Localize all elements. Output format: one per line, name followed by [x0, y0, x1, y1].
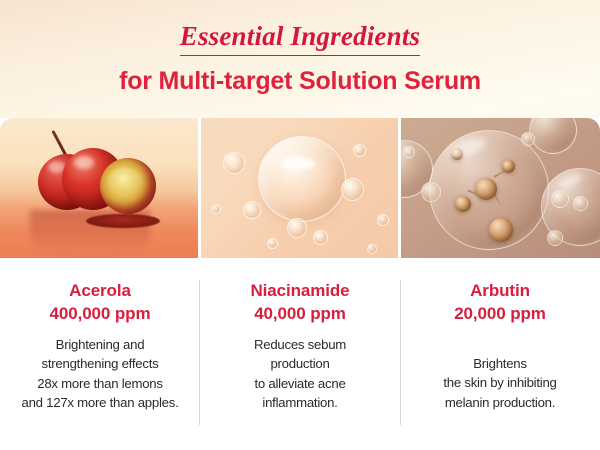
description-line: 28x more than lemons: [12, 374, 188, 394]
ingredient-card-acerola: Acerola 400,000 ppm Brightening andstren…: [0, 258, 200, 450]
bubble: [377, 214, 389, 226]
bubble: [223, 152, 245, 174]
description-line: inflammation.: [212, 393, 388, 413]
ingredient-name: Arbutin: [412, 280, 588, 303]
ingredient-image-strip: [0, 118, 600, 258]
description-line: Brightens: [412, 354, 588, 374]
description-line: production: [212, 354, 388, 374]
bubble: [353, 144, 366, 157]
bubble: [547, 230, 563, 246]
description-line: Reduces sebum: [212, 335, 388, 355]
ingredient-amount: 40,000 ppm: [212, 303, 388, 326]
sphere: [529, 118, 577, 154]
ingredient-description: Reduces sebumproductionto alleviate acne…: [212, 335, 388, 413]
description-line: the skin by inhibiting: [412, 373, 588, 393]
ingredient-columns: Acerola 400,000 ppm Brightening andstren…: [0, 258, 600, 450]
bubble: [313, 230, 328, 245]
ingredients-infographic: Essential Ingredients for Multi-target S…: [0, 0, 600, 450]
bubble: [367, 244, 377, 254]
page-title: Essential Ingredients: [180, 22, 421, 56]
description-line: melanin production.: [412, 393, 588, 413]
cherry-juice-pool: [86, 214, 160, 228]
acerola-cherries-photo: [0, 118, 198, 258]
description-line: strengthening effects: [12, 354, 188, 374]
bubble: [341, 178, 364, 201]
bubble: [287, 218, 307, 238]
ingredient-description: Brightening andstrengthening effects28x …: [12, 335, 188, 413]
ingredient-amount: 20,000 ppm: [412, 303, 588, 326]
main-serum-droplet: [258, 136, 346, 222]
cherry-halved: [100, 158, 156, 214]
ingredient-amount: 400,000 ppm: [12, 303, 188, 326]
page-subtitle: for Multi-target Solution Serum: [119, 67, 481, 96]
description-line: to alleviate acne: [212, 374, 388, 394]
serum-bubble-photo: [201, 118, 399, 258]
bubble: [267, 238, 278, 249]
bubble: [243, 201, 261, 219]
molecule-spheres-photo: [401, 118, 600, 258]
ingredient-card-arbutin: Arbutin 20,000 ppm Brightensthe skin by …: [400, 258, 600, 450]
header-banner: Essential Ingredients for Multi-target S…: [0, 0, 600, 118]
ingredient-name: Niacinamide: [212, 280, 388, 303]
ingredient-description: Brightensthe skin by inhibitingmelanin p…: [412, 354, 588, 413]
ingredient-name: Acerola: [12, 280, 188, 303]
ingredient-card-niacinamide: Niacinamide 40,000 ppm Reduces sebumprod…: [200, 258, 400, 450]
description-line: and 127x more than apples.: [12, 393, 188, 413]
bubble: [211, 204, 221, 214]
description-line: Brightening and: [12, 335, 188, 355]
